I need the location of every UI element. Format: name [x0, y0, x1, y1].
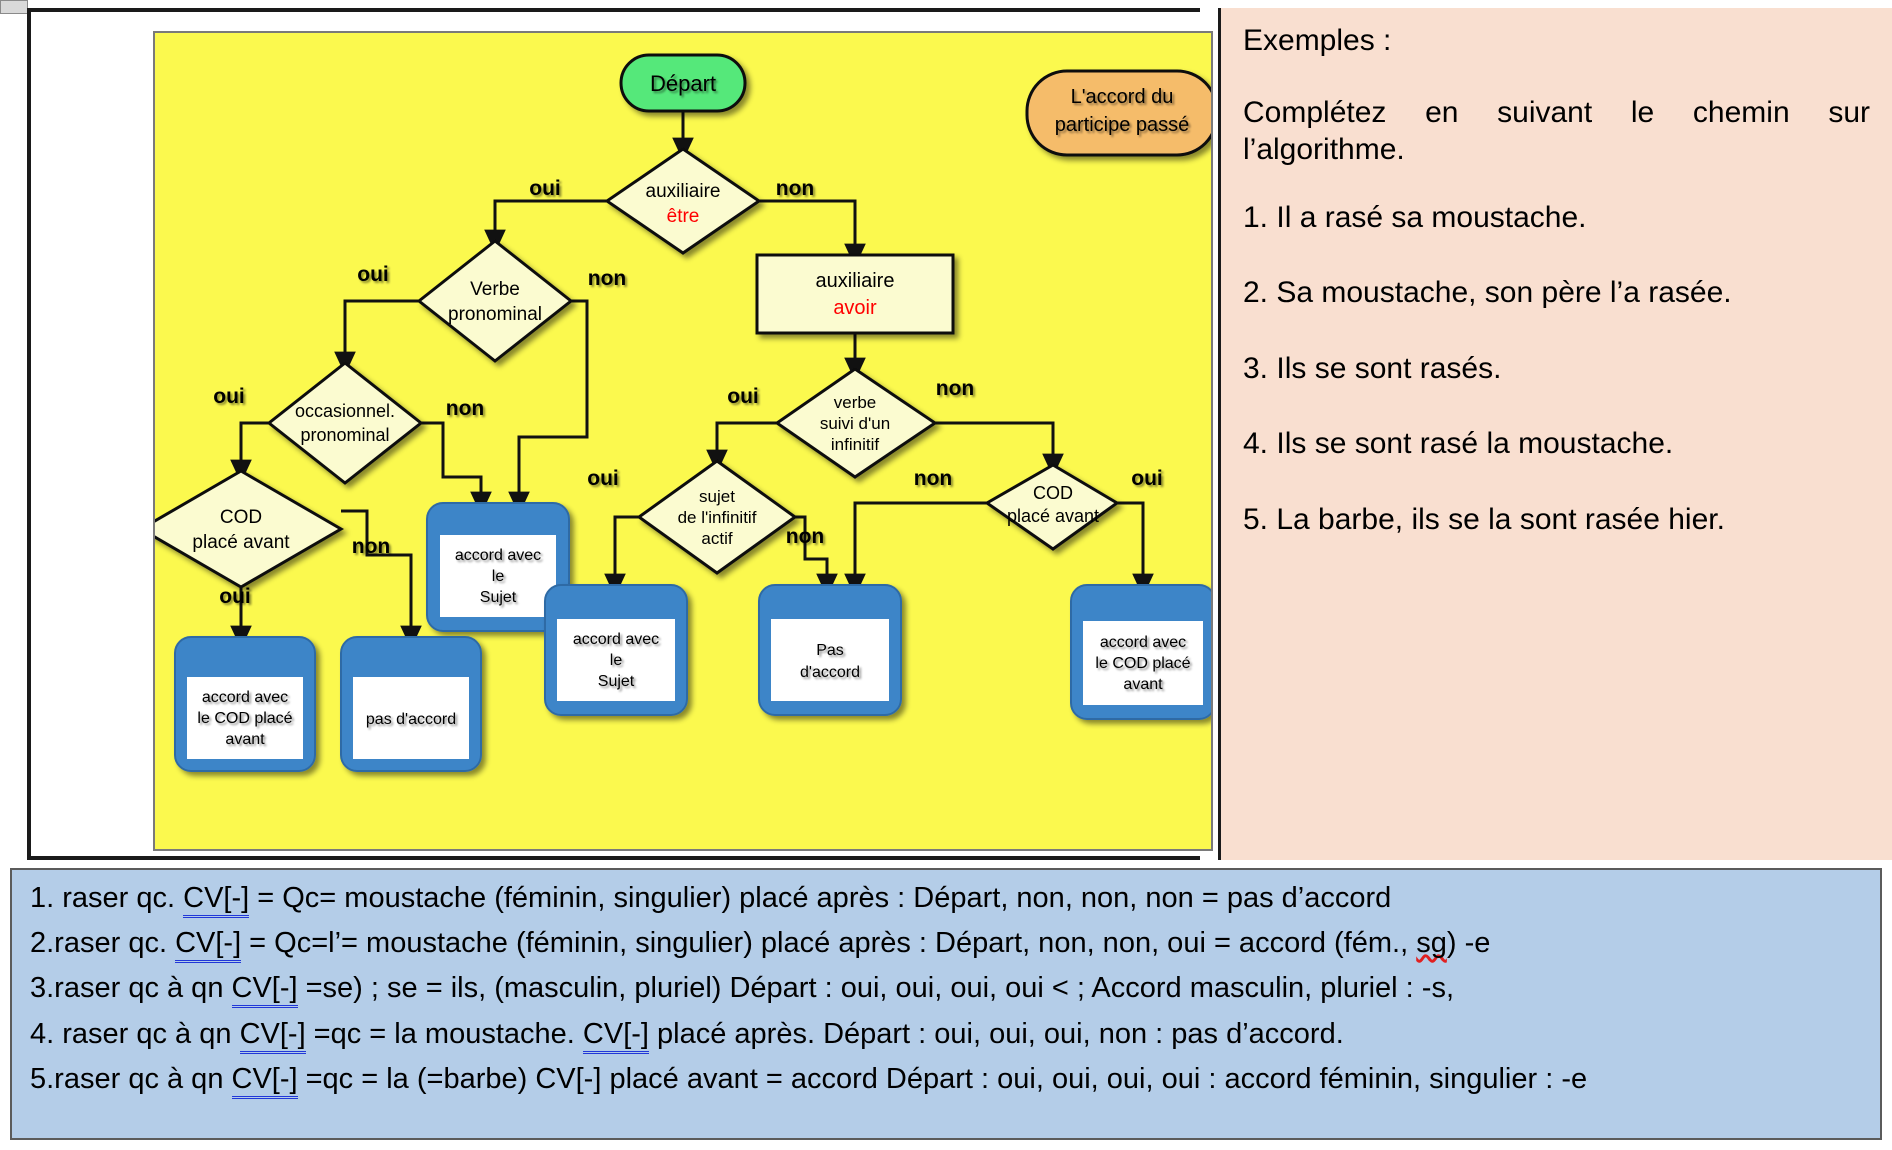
answer-marked-token: CV[-]	[240, 1018, 306, 1054]
terminal-cod-droite-line2: le COD placé	[1095, 655, 1190, 672]
node-codgauche-line2: placé avant	[192, 532, 290, 553]
terminal-sujet-bas-line1: accord avec	[573, 631, 659, 648]
top-area: oui non oui non oui non oui non oui non …	[0, 8, 1892, 860]
terminal-pas-accord-gauche: pas d'accord	[341, 637, 481, 771]
node-verbeinf-line2: suivi d'un	[820, 414, 890, 433]
terminal-sujet-bas-line3: Sujet	[598, 673, 635, 690]
example-item-4: 4. Ils se sont rasé la moustache.	[1243, 425, 1870, 463]
node-verbeinf-line3: infinitif	[831, 435, 879, 454]
edge-label-oui: oui	[529, 177, 561, 200]
terminal-sujet-haut-line2: le	[492, 568, 505, 585]
edge-label-non: non	[446, 397, 484, 420]
terminal-cod-droite-line1: accord avec	[1100, 634, 1186, 651]
answer-text: 1. raser qc.	[30, 882, 183, 914]
edge-occpron-sujet	[421, 423, 481, 503]
slide-root: oui non oui non oui non oui non oui non …	[0, 0, 1892, 1150]
node-auxavoir-line1: auxiliaire	[816, 270, 895, 292]
node-auxiliaire-etre: auxiliaire être	[607, 149, 759, 253]
terminal-cod-gauche-line1: accord avec	[202, 689, 288, 706]
answer-marked-token: sg	[1416, 927, 1447, 959]
node-verbe-suivi-infinitif: verbe suivi d'un infinitif	[777, 369, 935, 477]
terminal-accord-cod-droite: accord avec le COD placé avant	[1071, 585, 1211, 719]
node-verbe-pronominal: Verbe pronominal	[419, 241, 571, 361]
terminal-sujet-bas-line2: le	[610, 652, 623, 669]
answer-marked-token: CV[-]	[232, 1063, 298, 1099]
answer-text: 2.raser qc.	[30, 927, 175, 959]
node-cod-place-avant-droite: COD placé avant	[987, 465, 1117, 549]
node-codgauche-line1: COD	[220, 507, 262, 528]
answer-text: placé après. Départ : oui, oui, oui, non…	[649, 1018, 1344, 1050]
node-cod-place-avant-gauche: COD placé avant	[155, 471, 341, 587]
node-sujetinf-line3: actif	[701, 529, 732, 548]
edge-verbeinf-sujetinf	[717, 423, 777, 461]
terminal-sujet-haut-line1: accord avec	[455, 547, 541, 564]
edge-label-oui: oui	[587, 467, 619, 490]
node-start-label: Départ	[650, 71, 716, 96]
terminal-cod-gauche-line2: le COD placé	[197, 710, 292, 727]
node-sujetinf-line1: sujet	[699, 487, 735, 506]
example-item-5: 5. La barbe, ils se la sont rasée hier.	[1243, 501, 1870, 539]
node-occpron-line2: pronominal	[300, 425, 389, 445]
edge-auxetre-verbepron	[495, 201, 607, 241]
node-auxetre-line2: être	[667, 206, 700, 227]
example-item-3: 3. Ils se sont rasés.	[1243, 350, 1870, 388]
edge-label-non: non	[936, 377, 974, 400]
terminal-cod-gauche-line3: avant	[225, 731, 265, 748]
terminal-sujet-haut-line3: Sujet	[480, 589, 517, 606]
edge-label-oui: oui	[357, 263, 389, 286]
terminal-pas-accord-droite-line2: d'accord	[800, 664, 860, 681]
answer-line: 5.raser qc à qn CV[-] =qc = la (=barbe) …	[30, 1057, 1880, 1102]
edge-codgauche-pasaccord	[341, 511, 411, 637]
edge-label-non: non	[786, 525, 824, 548]
node-auxetre-line1: auxiliaire	[646, 181, 721, 202]
answer-text: = Qc= moustache (féminin, singulier) pla…	[249, 882, 1391, 914]
terminal-pas-accord-droite-line1: Pas	[816, 642, 844, 659]
edge-label-non: non	[776, 177, 814, 200]
node-coddroite-line2: placé avant	[1007, 506, 1099, 526]
node-verbepron-line1: Verbe	[470, 279, 520, 300]
terminal-cod-droite-line3: avant	[1123, 676, 1163, 693]
terminal-pas-accord-droite: Pas d'accord	[759, 585, 901, 715]
answer-line: 3.raser qc à qn CV[-] =se) ; se = ils, (…	[30, 966, 1880, 1011]
answers-panel: 1. raser qc. CV[-] = Qc= moustache (fémi…	[10, 868, 1882, 1140]
edge-coddroite-pasaccord	[855, 503, 987, 585]
flowchart-svg: oui non oui non oui non oui non oui non …	[155, 33, 1211, 849]
answer-text: 4. raser qc à qn	[30, 1018, 240, 1050]
answer-marked-token: CV[-]	[232, 972, 298, 1008]
answer-marked-token: CV[-]	[175, 927, 241, 963]
examples-panel: Exemples : Complétez en suivant le chemi…	[1218, 8, 1892, 860]
answer-text: ) -e	[1447, 927, 1491, 959]
answer-text: =qc = la moustache.	[306, 1018, 583, 1050]
examples-heading: Exemples :	[1243, 22, 1870, 60]
node-auxiliaire-avoir: auxiliaire avoir	[757, 255, 953, 333]
answer-text: = Qc=l’= moustache (féminin, singulier) …	[241, 927, 1416, 959]
edge-label-oui: oui	[727, 385, 759, 408]
flowchart-canvas: oui non oui non oui non oui non oui non …	[153, 31, 1213, 851]
edge-label-oui: oui	[1131, 467, 1163, 490]
title-node-line1: L'accord du	[1071, 86, 1174, 108]
answer-text: =se) ; se = ils, (masculin, pluriel) Dép…	[298, 972, 1454, 1004]
node-sujet-infinitif-actif: sujet de l'infinitif actif	[639, 461, 795, 573]
node-verbeinf-line1: verbe	[834, 393, 877, 412]
edge-label-non: non	[914, 467, 952, 490]
edge-occpron-codgauche	[241, 423, 269, 471]
example-item-2: 2. Sa moustache, son père l’a rasée.	[1243, 274, 1870, 312]
edge-label-non: non	[352, 535, 390, 558]
answer-line: 1. raser qc. CV[-] = Qc= moustache (fémi…	[30, 876, 1880, 921]
answer-line: 2.raser qc. CV[-] = Qc=l’= moustache (fé…	[30, 921, 1880, 966]
answer-text: 3.raser qc à qn	[30, 972, 232, 1004]
terminal-accord-cod-gauche: accord avec le COD placé avant	[175, 637, 315, 771]
edge-label-oui: oui	[213, 385, 245, 408]
edge-label-non: non	[588, 267, 626, 290]
answer-marked-token: CV[-]	[583, 1018, 649, 1054]
examples-instruction: Complétez en suivant le chemin sur l’alg…	[1243, 94, 1870, 169]
node-start: Départ	[621, 55, 745, 111]
answer-line: 4. raser qc à qn CV[-] =qc = la moustach…	[30, 1012, 1880, 1057]
node-occpron-line1: occasionnel.	[295, 401, 395, 421]
edge-verbeinf-coddroite	[935, 423, 1053, 465]
edge-verbepron-occpron	[345, 301, 419, 363]
node-auxavoir-line2: avoir	[833, 297, 877, 319]
terminal-accord-sujet-bas: accord avec le Sujet	[545, 585, 687, 715]
answer-marked-token: CV[-]	[183, 882, 249, 918]
title-node-line2: participe passé	[1055, 114, 1190, 136]
edge-auxetre-auxavoir	[759, 201, 855, 255]
node-coddroite-line1: COD	[1033, 483, 1073, 503]
edge-coddroite-accordcod	[1117, 503, 1143, 585]
edge-label-oui: oui	[219, 585, 251, 608]
node-occasionnel-pronominal: occasionnel. pronominal	[269, 363, 421, 483]
answer-text: =qc = la (=barbe) CV[-] placé avant = ac…	[298, 1063, 1588, 1095]
example-item-1: 1. Il a rasé sa moustache.	[1243, 199, 1870, 237]
terminal-pas-accord-gauche-label: pas d'accord	[366, 711, 456, 728]
node-sujetinf-line2: de l'infinitif	[678, 508, 757, 527]
node-title-accord: L'accord du participe passé	[1027, 71, 1211, 155]
node-verbepron-line2: pronominal	[448, 304, 542, 325]
answer-text: 5.raser qc à qn	[30, 1063, 232, 1095]
flowchart-frame: oui non oui non oui non oui non oui non …	[27, 8, 1200, 860]
edge-sujetinf-accordsujet	[615, 517, 639, 585]
